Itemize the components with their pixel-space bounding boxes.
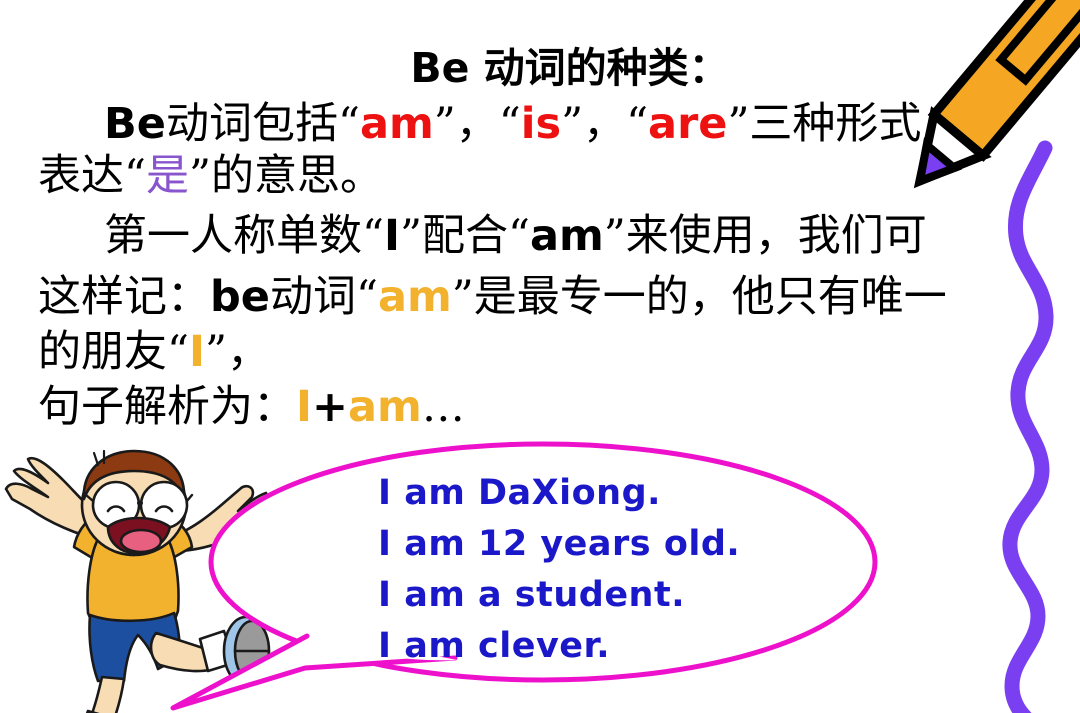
text-cn-pairs-with: 配合 [422, 211, 508, 261]
purple-wavy-line [950, 140, 1080, 713]
body-line-6: 的朋友“I”， [38, 331, 1080, 374]
quote-open-are: “ [626, 99, 648, 149]
quote-close-am3: ” [452, 272, 474, 322]
quote-open-i2: “ [167, 327, 189, 377]
speech-bubble-text: I am DaXiong. I am 12 years old. I am a … [378, 468, 848, 672]
text-be-lower: be [210, 272, 270, 322]
text-be: Be [104, 99, 166, 149]
text-cn-verb: 动词 [270, 272, 356, 322]
text-plus-sign: + [312, 382, 348, 432]
text-cn-meaning: 的意思。 [211, 151, 383, 201]
quote-open-am: “ [338, 99, 360, 149]
keyword-i-black: I [384, 211, 400, 261]
keyword-are-red: are [648, 99, 727, 149]
body-line-7: 句子解析为：I+am… [38, 386, 1080, 429]
body-line-4: 第一人称单数“I”配合“am”来使用，我们可 [104, 215, 1080, 258]
slide-canvas: Be 动词的种类： Be动词包括“am”，“is”，“are”三种形式， 表达“… [0, 0, 1080, 713]
quote-open-am3: “ [356, 272, 378, 322]
quote-close-am: ”， [434, 99, 499, 149]
page-title-cn: 动词的种类： [469, 44, 729, 92]
bubble-line-1: I am DaXiong. [378, 468, 848, 519]
text-cn-first-person: 第一人称单数 [104, 211, 362, 261]
page-title-latin: Be [410, 44, 469, 92]
text-cn-express: 表达 [38, 151, 124, 201]
keyword-am-gold-2: am [348, 382, 422, 432]
keyword-is-red: is [521, 99, 561, 149]
keyword-i-gold-2: I [296, 382, 312, 432]
keyword-am-gold: am [378, 272, 452, 322]
quote-open-is: “ [499, 99, 521, 149]
bubble-line-2: I am 12 years old. [378, 519, 848, 570]
wavy-line-icon [950, 140, 1080, 713]
quote-close-i: ” [400, 211, 422, 261]
text-cn-friend: 的朋友 [38, 327, 167, 377]
keyword-am-red: am [360, 99, 434, 149]
keyword-i-gold: I [189, 327, 205, 377]
quote-close-is: ”， [561, 99, 626, 149]
quote-close-shi: ” [189, 151, 211, 201]
quote-close-i2: ”， [205, 327, 270, 377]
quote-open-i: “ [362, 211, 384, 261]
quote-open-shi: “ [124, 151, 146, 201]
keyword-shi-purple: 是 [146, 151, 189, 201]
bubble-line-3: I am a student. [378, 570, 848, 621]
quote-close-am2: ” [604, 211, 626, 261]
text-cn-sentence-analysis: 句子解析为： [38, 382, 296, 432]
bubble-line-4: I am clever. [378, 621, 848, 672]
body-line-5: 这样记：be动词“am”是最专一的，他只有唯一 [38, 276, 1080, 319]
text-cn-remember: 这样记： [38, 272, 210, 322]
text-ellipsis: … [422, 382, 465, 432]
keyword-am-black: am [530, 211, 604, 261]
text-cn-includes: 动词包括 [166, 99, 338, 149]
text-cn-most-exclusive: 是最专一的，他只有唯一 [474, 272, 947, 322]
quote-open-am2: “ [508, 211, 530, 261]
